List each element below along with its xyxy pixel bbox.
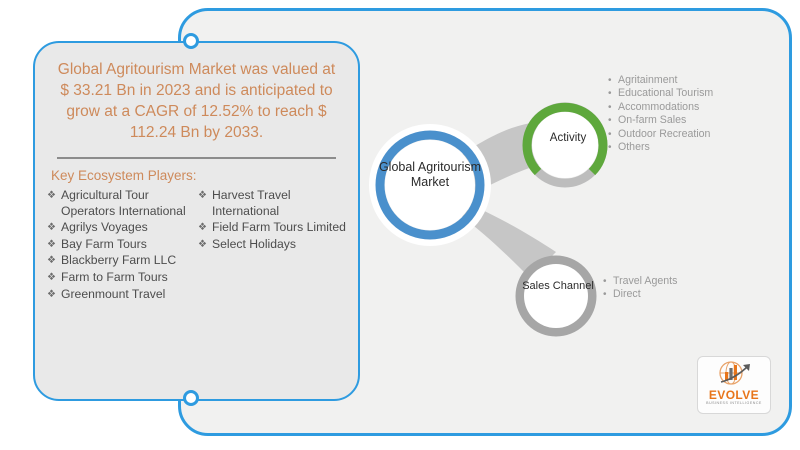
list-item: ❖ Bay Farm Tours [47, 237, 198, 253]
evolve-logo: EVOLVE BUSINESS INTELLIGENCE [697, 356, 771, 414]
diamond-bullet-icon: ❖ [47, 253, 61, 269]
dot-bullet-icon: • [608, 101, 618, 114]
list-item: • Agritainment [608, 74, 713, 87]
diamond-bullet-icon: ❖ [198, 188, 212, 219]
key-players-column-right: ❖ Harvest Travel International ❖ Field F… [198, 188, 349, 303]
diamond-bullet-icon: ❖ [47, 287, 61, 303]
sales-node-face [524, 264, 588, 328]
player-name: Greenmount Travel [61, 287, 198, 303]
diamond-bullet-icon: ❖ [47, 237, 61, 253]
center-node-label: Global Agritourism Market [375, 160, 485, 190]
activity-node-face [532, 112, 598, 178]
branch-item-label: Educational Tourism [618, 87, 713, 100]
list-item: • Others [608, 141, 713, 154]
branch-item-label: Others [618, 141, 650, 154]
branch-item-label: Accommodations [618, 101, 699, 114]
list-item: ❖ Agrilys Voyages [47, 220, 198, 236]
list-item: ❖ Greenmount Travel [47, 287, 198, 303]
list-item: ❖ Field Farm Tours Limited [198, 220, 349, 236]
list-item: ❖ Harvest Travel International [198, 188, 349, 219]
dot-bullet-icon: • [608, 141, 618, 154]
sales-branch-list: • Travel Agents • Direct [603, 275, 677, 302]
dot-bullet-icon: • [608, 128, 618, 141]
dot-bullet-icon: • [603, 275, 613, 288]
ecosystem-diagram: Global Agritourism Market Activity Sales… [360, 40, 792, 380]
list-item: • Direct [603, 288, 677, 301]
branch-item-label: Travel Agents [613, 275, 677, 288]
player-name: Agrilys Voyages [61, 220, 198, 236]
diamond-bullet-icon: ❖ [47, 220, 61, 236]
key-players-columns: ❖ Agricultural Tour Operators Internatio… [47, 188, 358, 303]
diamond-bullet-icon: ❖ [198, 220, 212, 236]
globe-chart-arrow-icon [712, 360, 756, 388]
list-item: • Travel Agents [603, 275, 677, 288]
diagram-graphics [360, 40, 792, 380]
list-item: • Outdoor Recreation [608, 128, 713, 141]
list-item: • On-farm Sales [608, 114, 713, 127]
dot-bullet-icon: • [603, 288, 613, 301]
activity-node-label: Activity [530, 132, 606, 144]
sales-node-label: Sales Channel [520, 280, 596, 293]
diamond-bullet-icon: ❖ [47, 188, 61, 219]
player-name: Agricultural Tour Operators Internationa… [61, 188, 198, 219]
dot-bullet-icon: • [608, 87, 618, 100]
frame-connector-dot-top [183, 33, 199, 49]
card-divider [57, 157, 336, 159]
info-card: Global Agritourism Market was valued at … [33, 41, 360, 401]
activity-branch-list: • Agritainment • Educational Tourism • A… [608, 74, 713, 154]
dot-bullet-icon: • [608, 74, 618, 87]
diamond-bullet-icon: ❖ [198, 237, 212, 253]
branch-item-label: Direct [613, 288, 641, 301]
list-item: • Educational Tourism [608, 87, 713, 100]
frame-connector-dot-bottom [183, 390, 199, 406]
player-name: Field Farm Tours Limited [212, 220, 349, 236]
list-item: ❖ Agricultural Tour Operators Internatio… [47, 188, 198, 219]
key-players-title: Key Ecosystem Players: [51, 168, 358, 183]
player-name: Bay Farm Tours [61, 237, 198, 253]
list-item: • Accommodations [608, 101, 713, 114]
diamond-bullet-icon: ❖ [47, 270, 61, 286]
branch-item-label: Outdoor Recreation [618, 128, 710, 141]
player-name: Select Holidays [212, 237, 349, 253]
branch-item-label: On-farm Sales [618, 114, 686, 127]
logo-name: EVOLVE [698, 388, 770, 402]
list-item: ❖ Farm to Farm Tours [47, 270, 198, 286]
dot-bullet-icon: • [608, 114, 618, 127]
player-name: Blackberry Farm LLC [61, 253, 198, 269]
list-item: ❖ Blackberry Farm LLC [47, 253, 198, 269]
key-players-column-left: ❖ Agricultural Tour Operators Internatio… [47, 188, 198, 303]
player-name: Farm to Farm Tours [61, 270, 198, 286]
list-item: ❖ Select Holidays [198, 237, 349, 253]
player-name: Harvest Travel International [212, 188, 349, 219]
market-headline: Global Agritourism Market was valued at … [57, 59, 336, 143]
branch-item-label: Agritainment [618, 74, 677, 87]
logo-tagline: BUSINESS INTELLIGENCE [698, 401, 770, 405]
